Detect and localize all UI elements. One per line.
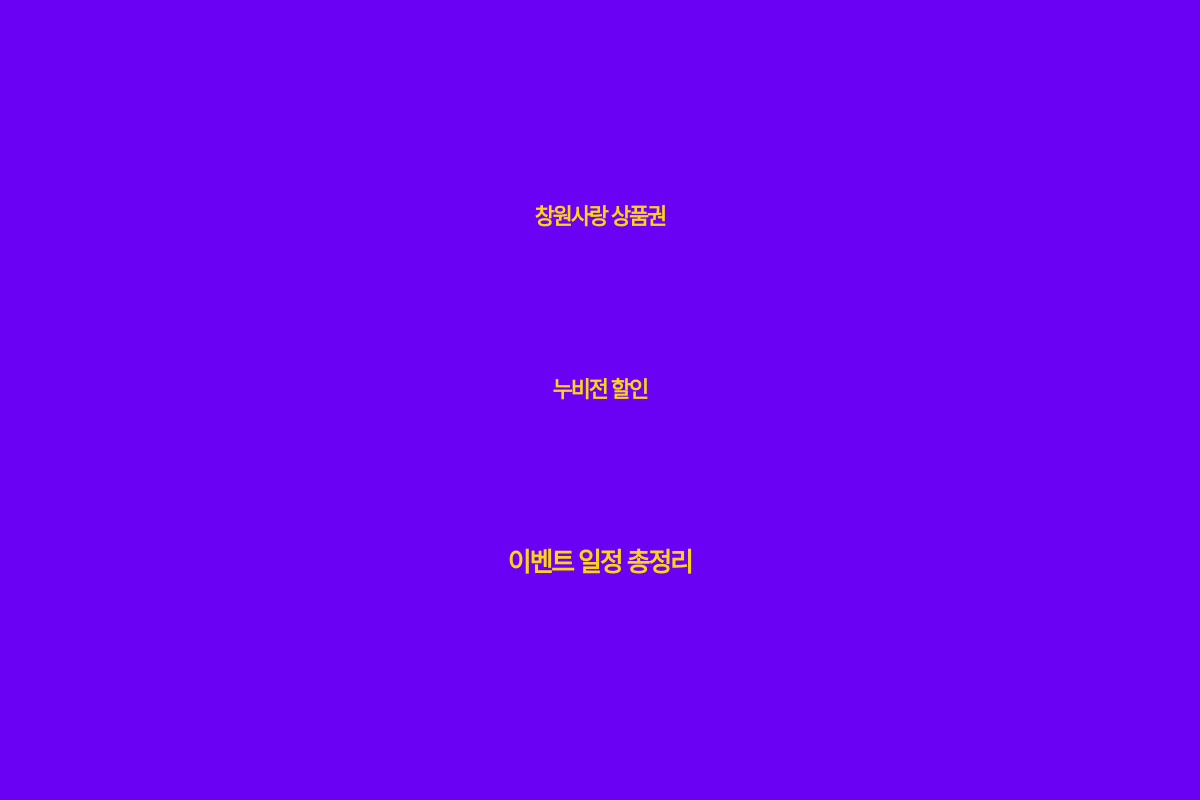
headline-line-3: 이벤트 일정 총정리	[6, 476, 1194, 649]
headline-block: 창원사랑 상품권 누비전 할인 이벤트 일정 총정리	[0, 130, 1200, 649]
headline-line-2: 누비전 할인	[6, 303, 1194, 476]
promo-banner: 창원사랑 상품권 누비전 할인 이벤트 일정 총정리	[0, 0, 1200, 800]
headline-line-1: 창원사랑 상품권	[6, 130, 1194, 303]
